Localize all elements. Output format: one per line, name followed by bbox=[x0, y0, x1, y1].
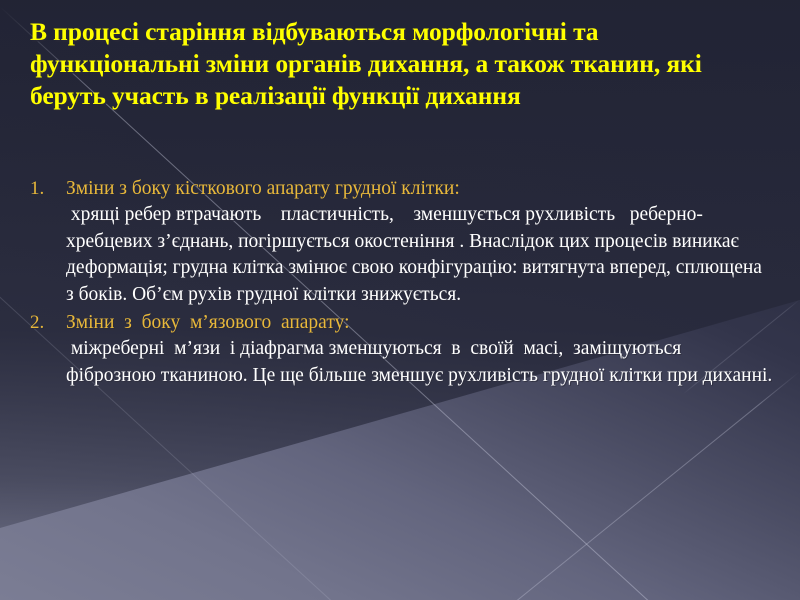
list-item-text: міжреберні м’язи і діафрагма зменшуються… bbox=[66, 336, 774, 389]
list-item-heading: Зміни з боку кісткового апарату грудної … bbox=[66, 176, 774, 202]
list-item: 2. Зміни з боку м’язового апарату: міжре… bbox=[22, 310, 782, 389]
list-item-number: 1. bbox=[22, 176, 66, 202]
slide-title: В процесі старіння відбуваються морфолог… bbox=[30, 16, 772, 112]
presentation-slide: В процесі старіння відбуваються морфолог… bbox=[0, 0, 800, 600]
list-item-body: Зміни з боку м’язового апарату: міжребер… bbox=[66, 310, 782, 389]
list-item: 1. Зміни з боку кісткового апарату грудн… bbox=[22, 176, 782, 308]
slide-content: В процесі старіння відбуваються морфолог… bbox=[0, 0, 800, 600]
list-item-heading: Зміни з боку м’язового апарату: bbox=[66, 310, 774, 336]
slide-numbered-list: 1. Зміни з боку кісткового апарату грудн… bbox=[22, 176, 782, 389]
list-item-body: Зміни з боку кісткового апарату грудної … bbox=[66, 176, 782, 308]
list-item-text: хрящі ребер втрачають пластичність, змен… bbox=[66, 202, 774, 308]
list-item-number: 2. bbox=[22, 310, 66, 336]
